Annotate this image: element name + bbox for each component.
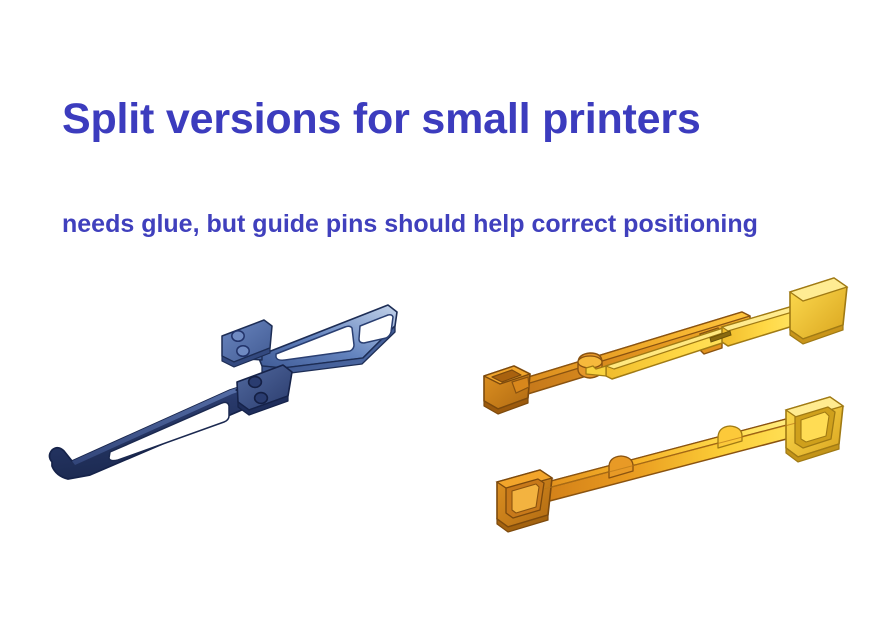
slide-subtitle: needs glue, but guide pins should help c… <box>62 207 762 243</box>
guide-pin-hole <box>237 346 249 357</box>
guide-pin <box>255 393 268 404</box>
guide-pin <box>249 377 262 388</box>
part-split-rail-assembly <box>484 278 847 414</box>
figure-container <box>0 270 883 570</box>
slide-canvas: Split versions for small printers needs … <box>0 0 883 625</box>
page-title: Split versions for small printers <box>62 97 822 142</box>
part-blue-frame-piece <box>222 305 397 374</box>
part-blue-lever-arm <box>50 365 293 479</box>
part-socket-bar <box>497 397 843 532</box>
cad-render-figure <box>0 270 883 570</box>
guide-pin-hole <box>232 331 244 342</box>
